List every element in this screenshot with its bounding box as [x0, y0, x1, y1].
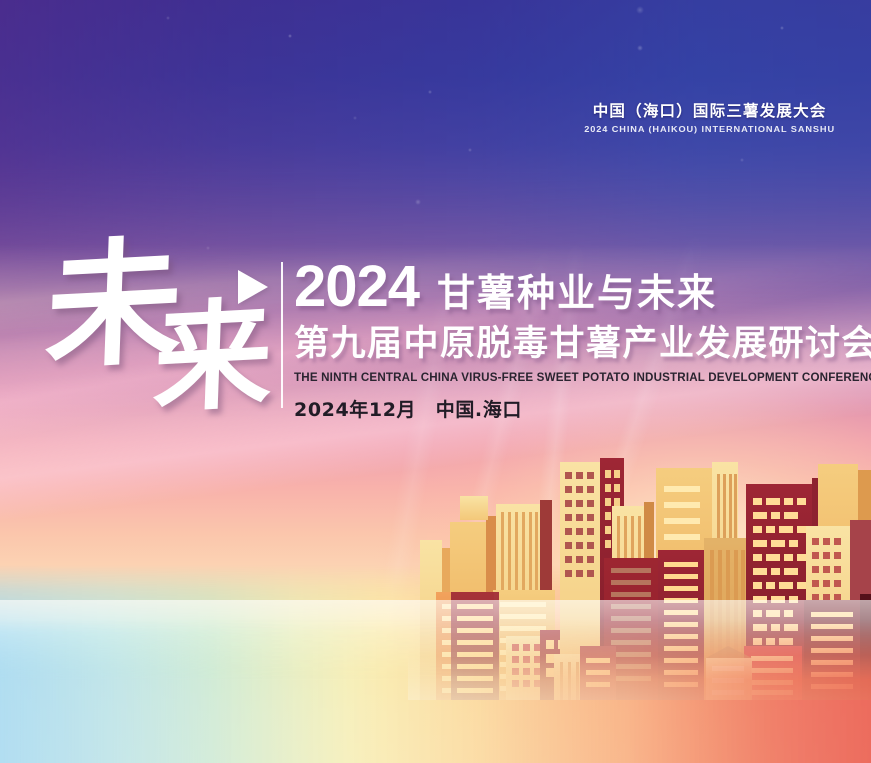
title-theme-cn: 甘薯种业与未来 [437, 274, 717, 312]
title-subtitle-en: THE NINTH CENTRAL CHINA VIRUS-FREE SWEET… [294, 371, 854, 384]
calligraphy-char-lai: 来 [152, 295, 275, 419]
badge-title-en: 2024 CHINA (HAIKOU) INTERNATIONAL SANSHU [584, 125, 835, 133]
conference-badge: 中国（海口）国际三薯发展大会 2024 CHINA (HAIKOU) INTER… [584, 104, 835, 134]
title-line-primary: 2024 甘薯种业与未来 [294, 258, 854, 316]
ground-color-wash [0, 620, 871, 763]
title-year: 2024 [294, 258, 419, 316]
title-date-location: 2024年12月 中国.海口 [294, 395, 854, 422]
badge-title-cn: 中国（海口）国际三薯发展大会 [584, 104, 835, 120]
conference-poster: 中国（海口）国际三薯发展大会 2024 CHINA (HAIKOU) INTER… [0, 0, 871, 763]
play-triangle-icon [238, 270, 268, 304]
calligraphy-future: 未 来 [38, 238, 278, 413]
title-block: 2024 甘薯种业与未来 第九届中原脱毒甘薯产业发展研讨会 THE NINTH … [294, 258, 854, 422]
title-subtitle-cn: 第九届中原脱毒甘薯产业发展研讨会 [294, 326, 854, 364]
vertical-divider [281, 262, 283, 408]
